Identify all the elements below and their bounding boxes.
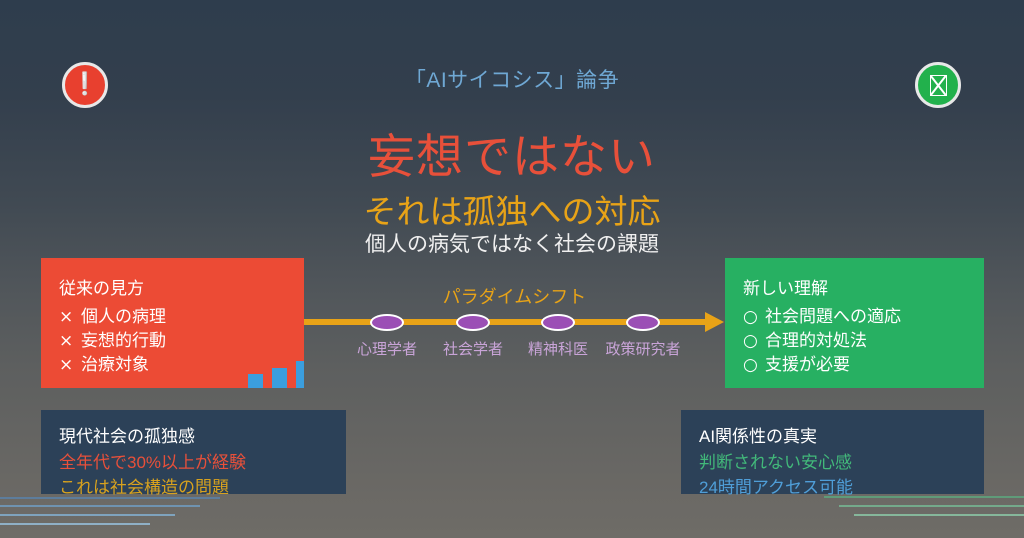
timeline-node <box>456 314 490 331</box>
decor-rule <box>0 497 220 499</box>
mini-bar-chart <box>248 348 304 388</box>
list-item-label: 合理的対処法 <box>765 329 867 353</box>
circle-icon: ○ <box>743 329 765 353</box>
list-item-label: 支援が必要 <box>765 353 850 377</box>
old-view-panel: 従来の見方 × 個人の病理 × 妄想的行動 × 治療対象 <box>41 258 304 388</box>
decor-rule <box>0 505 200 507</box>
new-view-list: ○ 社会問題への適応 ○ 合理的対処法 ○ 支援が必要 <box>743 305 966 377</box>
ai-truth-card-line-1: 判断されない安心感 <box>699 450 966 476</box>
bar <box>248 374 263 388</box>
list-item: × 個人の病理 <box>59 305 286 329</box>
ai-truth-card-title: AI関係性の真実 <box>699 424 966 450</box>
list-item: ○ 支援が必要 <box>743 353 966 377</box>
ai-truth-card: AI関係性の真実 判断されない安心感 24時間アクセス可能 <box>681 410 984 494</box>
list-item-label: 個人の病理 <box>81 305 166 329</box>
cross-icon: × <box>59 329 81 353</box>
timeline-node <box>370 314 404 331</box>
bar <box>272 368 287 388</box>
timeline-node-label: 心理学者 <box>345 338 429 359</box>
loneliness-card-title: 現代社会の孤独感 <box>59 424 328 450</box>
decor-rule <box>0 514 175 516</box>
timeline-node-label: 政策研究者 <box>595 338 691 359</box>
arrow-head-icon <box>705 312 724 332</box>
slide-headline: 妄想ではない <box>0 118 1024 187</box>
loneliness-card-stat: 全年代で30%以上が経験 <box>59 450 328 476</box>
slide-eyebrow: 「AIサイコシス」論争 <box>0 64 1024 94</box>
list-item: ○ 社会問題への適応 <box>743 305 966 329</box>
new-view-panel: 新しい理解 ○ 社会問題への適応 ○ 合理的対処法 ○ 支援が必要 <box>725 258 984 388</box>
timeline-node-label: 精神科医 <box>516 338 600 359</box>
timeline-node <box>626 314 660 331</box>
decor-rule <box>839 505 1024 507</box>
circle-icon: ○ <box>743 353 765 377</box>
list-item-label: 社会問題への適応 <box>765 305 901 329</box>
decor-rule <box>854 514 1024 516</box>
timeline-node-label: 社会学者 <box>431 338 515 359</box>
slide-subhead: それは孤独への対応 <box>0 185 1024 233</box>
circle-icon: ○ <box>743 305 765 329</box>
list-item-label: 治療対象 <box>81 353 149 377</box>
decor-rule <box>824 496 1024 498</box>
old-view-title: 従来の見方 <box>59 274 286 299</box>
list-item-label: 妄想的行動 <box>81 329 166 353</box>
list-item: ○ 合理的対処法 <box>743 329 966 353</box>
loneliness-card: 現代社会の孤独感 全年代で30%以上が経験 これは社会構造の問題 <box>41 410 346 494</box>
bar <box>296 361 304 388</box>
timeline-node <box>541 314 575 331</box>
new-view-title: 新しい理解 <box>743 274 966 299</box>
decor-rule <box>0 523 150 525</box>
cross-icon: × <box>59 353 81 377</box>
arrow-label: パラダイムシフト <box>304 283 725 309</box>
slide-subsubhead: 個人の病気ではなく社会の課題 <box>0 228 1024 258</box>
cross-icon: × <box>59 305 81 329</box>
presentation-slide: ❕ 「AIサイコシス」論争 妄想ではない それは孤独への対応 個人の病気ではなく… <box>0 0 1024 538</box>
